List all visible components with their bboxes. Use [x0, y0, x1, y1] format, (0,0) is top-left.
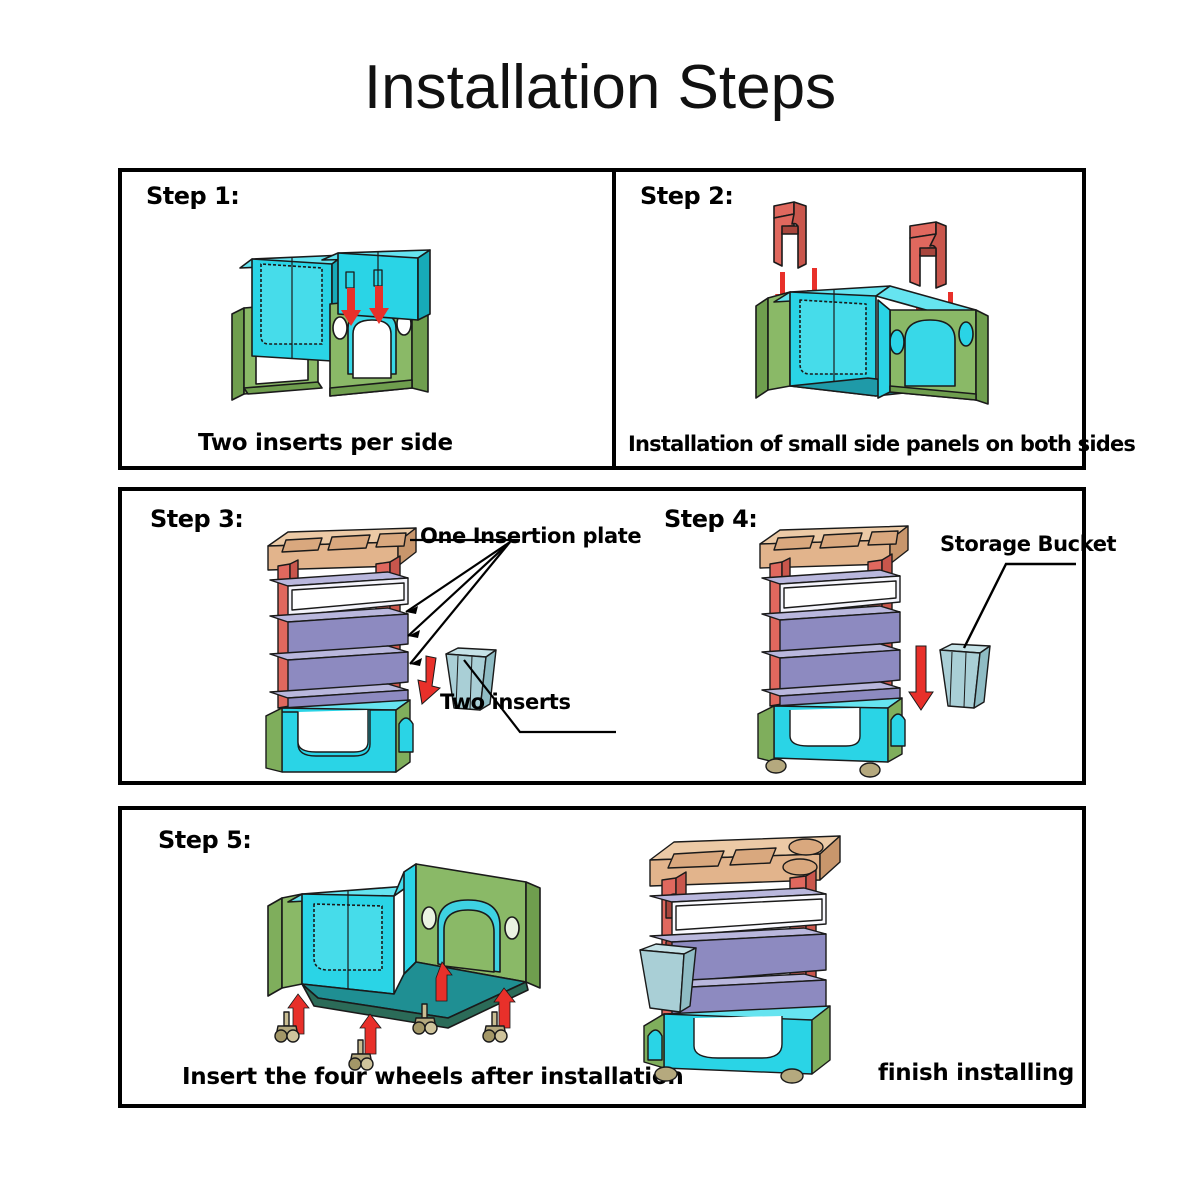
step-4-illustration	[750, 518, 1080, 776]
step-1-label: Step 1:	[146, 182, 239, 210]
step-2-label: Step 2:	[640, 182, 733, 210]
step-2-illustration	[750, 200, 1010, 420]
step-2-caption: Installation of small side panels on bot…	[628, 432, 1135, 456]
step-1-caption: Two inserts per side	[198, 430, 453, 456]
panel-divider-vertical	[612, 172, 616, 466]
step-3-label: Step 3:	[150, 505, 243, 533]
step-5-caption: Insert the four wheels after installatio…	[182, 1064, 683, 1090]
finish-illustration	[640, 830, 880, 1080]
annotation-insertion-plate: One Insertion plate	[420, 524, 641, 548]
finish-caption: finish installing	[878, 1060, 1074, 1086]
step-1-illustration	[222, 228, 472, 418]
page-title: Installation Steps	[0, 52, 1200, 123]
annotation-storage-bucket: Storage Bucket	[940, 532, 1116, 556]
step-3-illustration	[258, 520, 638, 775]
annotation-two-inserts: Two inserts	[440, 690, 571, 714]
step-5-illustration	[258, 862, 588, 1062]
step-5-label: Step 5:	[158, 826, 251, 854]
step-4-label: Step 4:	[664, 505, 757, 533]
